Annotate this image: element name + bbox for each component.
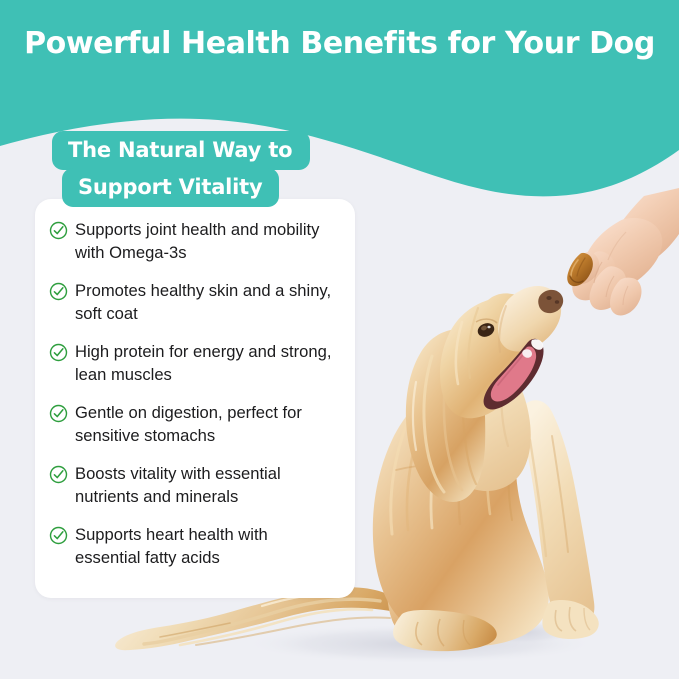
check-circle-icon [49,343,68,362]
benefit-item: Promotes healthy skin and a shiny, soft … [49,279,339,325]
subtitle-line-2: Support Vitality [62,168,279,207]
dog-head [440,286,563,418]
check-circle-icon [49,282,68,301]
subtitle-line-1: The Natural Way to [52,131,310,170]
benefit-item: Gentle on digestion, perfect for sensiti… [49,401,339,447]
benefit-item: Supports joint health and mobility with … [49,218,339,264]
benefit-item: Supports heart health with essential fat… [49,523,339,569]
benefit-text: Gentle on digestion, perfect for sensiti… [75,401,337,447]
page-title: Powerful Health Benefits for Your Dog [0,26,679,62]
benefit-text: Supports joint health and mobility with … [75,218,337,264]
check-circle-icon [49,221,68,240]
benefits-card: Supports joint health and mobility with … [35,199,355,598]
check-circle-icon [49,526,68,545]
check-circle-icon [49,404,68,423]
benefit-item: Boosts vitality with essential nutrients… [49,462,339,508]
subtitle-badge: The Natural Way to Support Vitality [52,131,310,207]
benefit-text: Promotes healthy skin and a shiny, soft … [75,279,337,325]
benefit-text: High protein for energy and strong, lean… [75,340,337,386]
benefit-item: High protein for energy and strong, lean… [49,340,339,386]
check-circle-icon [49,465,68,484]
benefit-text: Boosts vitality with essential nutrients… [75,462,337,508]
promo-graphic: Powerful Health Benefits for Your Dog Th… [0,0,679,679]
benefit-text: Supports heart health with essential fat… [75,523,337,569]
hand-with-treat [567,188,679,315]
